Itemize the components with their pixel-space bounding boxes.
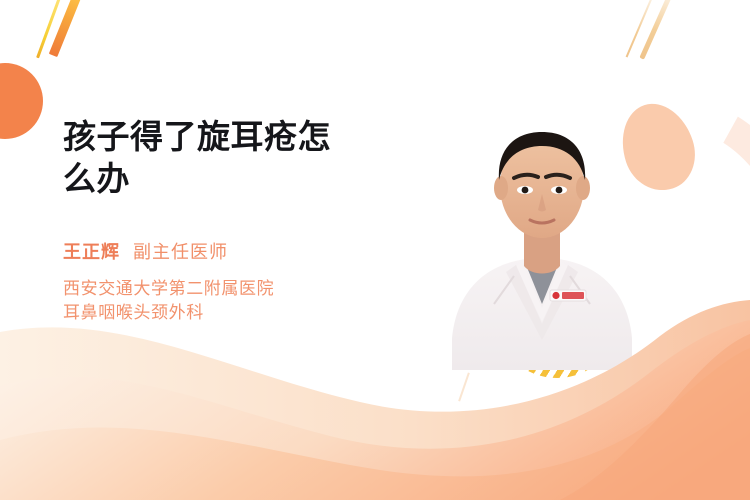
diagonal-stroke-cream-icon <box>639 0 675 60</box>
doctor-portrait <box>452 108 632 370</box>
orange-circle-shape <box>0 63 43 139</box>
text-block: 孩子得了旋耳疮怎 么办 王正辉 副主任医师 西安交通大学第二附属医院 耳鼻咽喉头… <box>63 116 413 326</box>
diagonal-stroke-orange-icon <box>49 0 84 57</box>
doctor-identity-line: 王正辉 副主任医师 <box>63 238 413 264</box>
doctor-hospital: 西安交通大学第二附属医院 <box>63 277 413 302</box>
page-title: 孩子得了旋耳疮怎 么办 <box>63 116 413 200</box>
diagonal-stroke-cream-thin-icon <box>626 0 657 57</box>
doctor-name: 王正辉 <box>63 238 120 264</box>
doctor-department: 耳鼻咽喉头颈外科 <box>63 301 413 326</box>
outline-stroke-shape <box>156 357 178 402</box>
doctor-professional-title: 副主任医师 <box>133 238 228 264</box>
faint-stroke-shape <box>458 372 470 401</box>
doctor-affiliation: 西安交通大学第二附属医院 耳鼻咽喉头颈外科 <box>63 277 413 326</box>
diagonal-stroke-yellow-icon <box>36 0 63 58</box>
video-cover-card: 孩子得了旋耳疮怎 么办 王正辉 副主任医师 西安交通大学第二附属医院 耳鼻咽喉头… <box>0 0 750 500</box>
